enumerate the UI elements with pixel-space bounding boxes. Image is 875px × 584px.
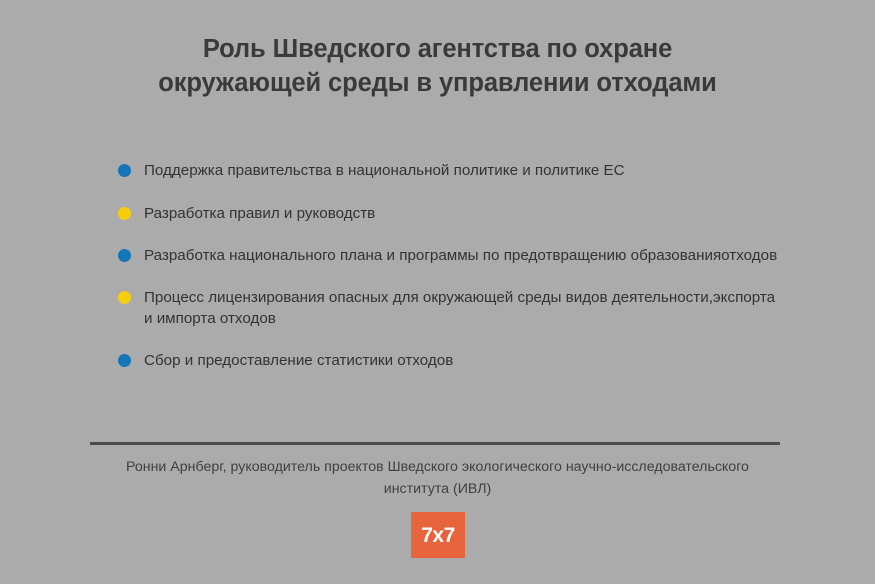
page-title-line-2: окружающей среды в управлении отходами xyxy=(60,66,815,100)
logo-7x7: 7x7 xyxy=(411,512,465,558)
bullet-dot-icon xyxy=(118,207,131,220)
presentation-slide: Роль Шведского агентства по охране окруж… xyxy=(0,0,875,584)
bullet-dot-icon xyxy=(118,164,131,177)
list-item-label: Поддержка правительства в национальной п… xyxy=(144,160,625,182)
list-item: Сбор и предоставление статистики отходов xyxy=(118,350,818,372)
footer-divider xyxy=(90,442,780,445)
list-item-label: Разработка правил и руководств xyxy=(144,203,375,225)
list-item-label: Сбор и предоставление статистики отходов xyxy=(144,350,453,372)
page-title-line-1: Роль Шведского агентства по охране xyxy=(60,32,815,66)
page-title: Роль Шведского агентства по охране окруж… xyxy=(60,32,815,100)
list-item: Поддержка правительства в национальной п… xyxy=(118,160,818,182)
list-item: Процесс лицензирования опасных для окруж… xyxy=(118,287,818,330)
attribution-text: Ронни Арнберг, руководитель проектов Шве… xyxy=(100,456,775,500)
list-item-label: Процесс лицензирования опасных для окруж… xyxy=(144,287,784,330)
bullet-list: Поддержка правительства в национальной п… xyxy=(118,160,818,392)
bullet-dot-icon xyxy=(118,354,131,367)
logo-label: 7x7 xyxy=(421,525,455,546)
bullet-dot-icon xyxy=(118,291,131,304)
list-item: Разработка национального плана и програм… xyxy=(118,245,818,267)
list-item: Разработка правил и руководств xyxy=(118,203,818,225)
bullet-dot-icon xyxy=(118,249,131,262)
list-item-label: Разработка национального плана и програм… xyxy=(144,245,777,267)
